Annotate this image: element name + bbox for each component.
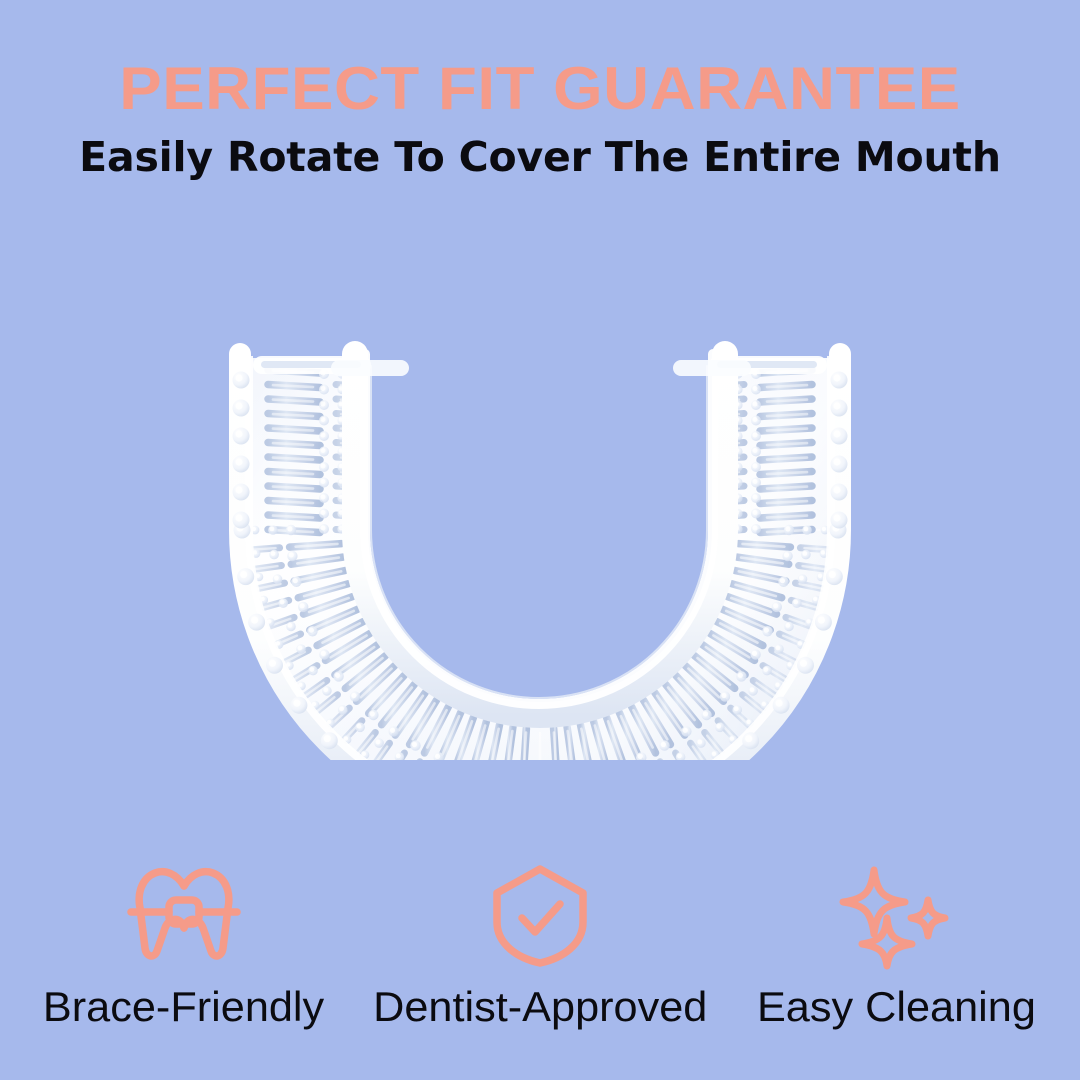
product-image (195, 330, 885, 760)
shield-check-icon (465, 862, 615, 970)
feature-label: Brace-Friendly (43, 984, 324, 1030)
feature-label: Dentist-Approved (373, 984, 707, 1030)
feature-row: Brace-Friendly Dentist-Approved (0, 862, 1080, 1052)
tooth-braces-icon (109, 862, 259, 970)
feature-label: Easy Cleaning (757, 984, 1036, 1030)
promo-canvas: PERFECT FIT GUARANTEE Easily Rotate To C… (0, 0, 1080, 1080)
headline: PERFECT FIT GUARANTEE (0, 58, 1080, 120)
feature-easy-cleaning: Easy Cleaning (726, 862, 1066, 1030)
feature-dentist-approved: Dentist-Approved (370, 862, 710, 1030)
sparkles-icon (821, 862, 971, 970)
subheadline: Easily Rotate To Cover The Entire Mouth (0, 133, 1080, 181)
feature-brace-friendly: Brace-Friendly (14, 862, 354, 1030)
